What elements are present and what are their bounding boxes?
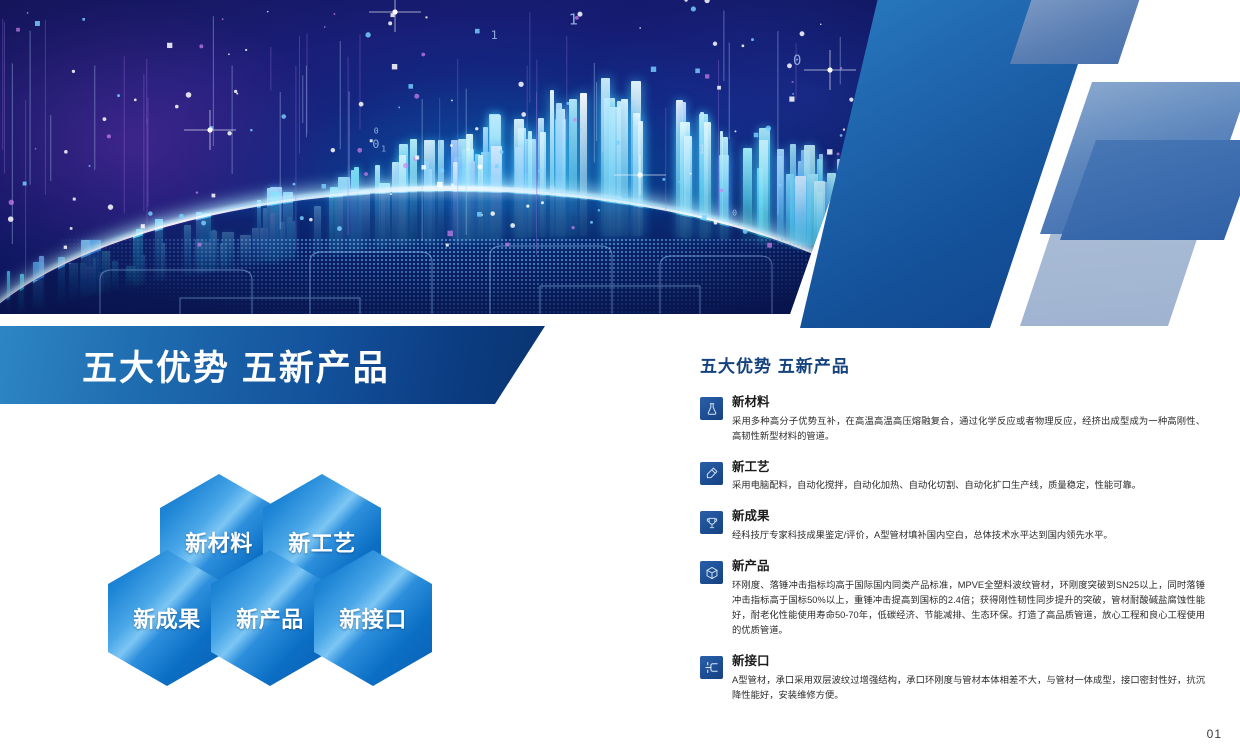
particle: [538, 169, 541, 172]
particle: [451, 100, 453, 102]
particle: [107, 134, 111, 138]
particle: [398, 106, 400, 108]
particle: [571, 226, 574, 229]
particle: [789, 96, 794, 101]
particle: [767, 243, 772, 248]
particle: [651, 67, 656, 72]
particle: [702, 215, 707, 220]
binary-digit: 0: [374, 125, 379, 135]
particle: [481, 214, 483, 216]
particle: [827, 149, 832, 154]
particle: [148, 211, 152, 215]
particle: [293, 183, 296, 186]
feature-desc: 采用多种高分子优势互补，在高温高温高压熔融复合，通过化学反应或者物理反应，经挤出…: [732, 414, 1205, 444]
feature-desc: 采用电脑配料，自动化搅拌，自动化加热、自动化切割、自动化扩口生产线，质量稳定，性…: [732, 478, 1205, 493]
feature-item-new-achievement: 新成果 经科技厅专家科技成果鉴定/评价，A型管材填补国内空白，总体技术水平达到国…: [700, 509, 1205, 543]
particle: [779, 183, 782, 186]
particle: [167, 43, 172, 48]
particle: [425, 16, 427, 18]
page-title: 五大优势 五新产品: [82, 340, 390, 391]
particle: [490, 211, 495, 216]
particle: [227, 131, 231, 135]
particle: [357, 148, 362, 153]
particle: [141, 224, 145, 228]
particle: [446, 244, 449, 247]
star-flare: [369, 0, 421, 32]
particle: [573, 118, 577, 122]
particle: [281, 114, 286, 119]
binary-digit: 0: [732, 208, 737, 218]
particle: [840, 134, 843, 137]
particle: [415, 155, 419, 159]
particle: [89, 165, 91, 167]
particle: [23, 182, 27, 186]
particle: [521, 112, 526, 117]
particle: [322, 184, 327, 189]
particle: [73, 198, 76, 201]
particle: [478, 164, 483, 169]
feature-desc: 环刚度、落锤冲击指标均高于国际国内同类产品标准，MPVE全塑料波纹管材，环刚度突…: [732, 578, 1205, 638]
particle: [201, 221, 206, 226]
hex-label: 新成果: [133, 602, 201, 634]
hexagon-cluster: 新材料 新工艺 新成果 新产品 新接口: [100, 470, 430, 695]
particle: [234, 90, 237, 93]
feature-title: 新接口: [732, 654, 1205, 670]
hex-label: 新接口: [339, 602, 407, 634]
particle: [421, 53, 425, 57]
particle: [500, 150, 504, 154]
particle: [580, 129, 582, 131]
particle: [236, 93, 238, 95]
particle: [390, 193, 392, 195]
particle: [690, 173, 692, 175]
particle: [623, 194, 627, 198]
particle: [309, 218, 313, 222]
title-banner: 五大优势 五新产品: [0, 326, 545, 404]
particle: [791, 199, 793, 201]
feature-desc: 经科技厅专家科技成果鉴定/评价，A型管材填补国内空白，总体技术水平达到国内领先水…: [732, 528, 1205, 543]
particle: [437, 182, 442, 187]
particle: [421, 165, 425, 169]
binary-digit: 1: [381, 144, 386, 153]
particle: [82, 18, 85, 21]
particle: [103, 117, 107, 121]
features-panel: 五大优势 五新产品 新材料 采用多种高分子优势互补，在高温高温高压熔融复合，通过…: [700, 352, 1205, 719]
particle: [179, 214, 184, 219]
particle: [792, 93, 794, 95]
trophy-icon: [700, 511, 723, 534]
particle: [408, 84, 413, 89]
particle: [8, 216, 14, 222]
star-flare: [804, 50, 856, 90]
particle: [35, 148, 36, 149]
binary-digit: 1: [569, 11, 578, 29]
particle: [228, 54, 230, 56]
particle: [392, 64, 397, 69]
features-heading: 五大优势 五新产品: [700, 352, 1205, 377]
particle: [414, 94, 419, 99]
slide-page: 010101001 五大优势 五新产品 新材料 新工艺 新成果 新产品 新接口 …: [0, 0, 1240, 753]
feature-title: 新产品: [732, 559, 1205, 575]
particle: [450, 144, 453, 147]
particle: [245, 49, 247, 51]
particle: [199, 44, 203, 48]
particle: [403, 163, 408, 168]
page-number: 01: [1207, 727, 1222, 741]
feature-item-new-product: 新产品 环刚度、落锤冲击指标均高于国际国内同类产品标准，MPVE全塑料波纹管材，…: [700, 559, 1205, 638]
particle: [505, 243, 509, 247]
cube-icon: [700, 561, 723, 584]
particle: [743, 229, 748, 234]
particle: [364, 172, 368, 176]
feature-item-new-material: 新材料 采用多种高分子优势互补，在高温高温高压熔融复合，通过化学反应或者物理反应…: [700, 395, 1205, 444]
particle: [705, 74, 709, 78]
particle: [300, 216, 304, 220]
particle: [751, 38, 754, 41]
particle: [134, 98, 137, 101]
particle: [695, 68, 700, 73]
feature-item-new-process: 新工艺 采用电脑配料，自动化搅拌，自动化加热、自动化切割、自动化扩口生产线，质量…: [700, 460, 1205, 494]
particle: [324, 26, 326, 28]
particle: [742, 45, 745, 48]
hex-label: 新工艺: [288, 526, 356, 558]
particle: [526, 205, 529, 208]
particle: [9, 200, 14, 205]
particle: [590, 221, 593, 224]
particle: [197, 243, 201, 247]
particle: [840, 67, 842, 69]
particle: [541, 201, 544, 204]
particle: [212, 194, 216, 198]
particle: [510, 223, 515, 228]
particle: [577, 12, 582, 17]
particle: [475, 29, 480, 34]
particle: [765, 126, 771, 132]
particle: [663, 178, 666, 181]
binary-digit: 0: [793, 53, 801, 69]
particle: [475, 127, 478, 130]
particle: [714, 221, 717, 224]
particle: [704, 0, 709, 3]
pipe-joint-icon: [700, 656, 723, 679]
particle: [566, 102, 569, 105]
particle: [388, 21, 392, 25]
feature-desc: A型管材，承口采用双层波纹过增强结构，承口环刚度与管材本体相差不大，与管材一体成…: [732, 673, 1205, 703]
particle: [699, 211, 701, 213]
binary-digit: 0: [549, 185, 555, 197]
particle: [448, 231, 453, 236]
particle: [70, 227, 73, 230]
binary-digit: 1: [491, 29, 498, 42]
particle: [16, 28, 20, 32]
particle: [518, 82, 523, 87]
particle: [186, 92, 192, 98]
feature-title: 新工艺: [732, 460, 1205, 476]
particle: [35, 21, 40, 26]
particle: [761, 208, 763, 210]
particle: [451, 183, 454, 186]
particle: [639, 27, 641, 29]
feature-item-new-interface: 新接口 A型管材，承口采用双层波纹过增强结构，承口环刚度与管材本体相差不大，与管…: [700, 654, 1205, 703]
particle: [720, 189, 724, 193]
particle: [250, 129, 253, 132]
particle: [467, 148, 469, 150]
particle: [359, 102, 364, 107]
particle: [679, 181, 681, 183]
particle: [331, 148, 335, 152]
hero-particles: 010101001: [0, 0, 900, 314]
hex-label: 新产品: [236, 602, 304, 634]
particle: [72, 70, 75, 73]
star-flare: [614, 155, 666, 195]
geo-shape-top-small: [1010, 0, 1170, 64]
particle: [837, 153, 840, 156]
hex-label: 新材料: [185, 526, 253, 558]
binary-digit: 0: [372, 137, 379, 151]
particle: [754, 133, 759, 138]
binary-digit: 1: [698, 142, 706, 157]
hammer-icon: [700, 462, 723, 485]
particle: [717, 86, 721, 90]
feature-title: 新材料: [732, 395, 1205, 411]
particle: [713, 42, 717, 46]
particle: [267, 11, 269, 13]
particle: [734, 130, 736, 132]
particle: [196, 191, 198, 193]
particle: [849, 98, 853, 102]
particle: [439, 168, 444, 173]
particle: [615, 140, 620, 145]
particle: [691, 6, 696, 11]
particle: [64, 150, 68, 154]
particle: [820, 23, 822, 25]
star-flare: [184, 110, 236, 150]
tech-city-banner: 010101001: [0, 0, 900, 314]
particle: [684, 0, 687, 2]
particle: [843, 128, 845, 130]
particle: [598, 209, 600, 211]
particle: [27, 12, 29, 14]
particle: [800, 31, 805, 36]
particle: [787, 63, 792, 68]
flask-icon: [700, 397, 723, 420]
particle: [108, 204, 113, 209]
particle: [792, 81, 794, 83]
particle: [64, 246, 67, 249]
particle: [222, 18, 224, 20]
particle: [333, 13, 335, 15]
particle: [365, 32, 370, 37]
feature-title: 新成果: [732, 509, 1205, 525]
particle: [117, 94, 120, 97]
particle: [175, 105, 179, 109]
particle: [477, 212, 482, 217]
particle: [337, 226, 342, 231]
particle: [495, 164, 499, 168]
